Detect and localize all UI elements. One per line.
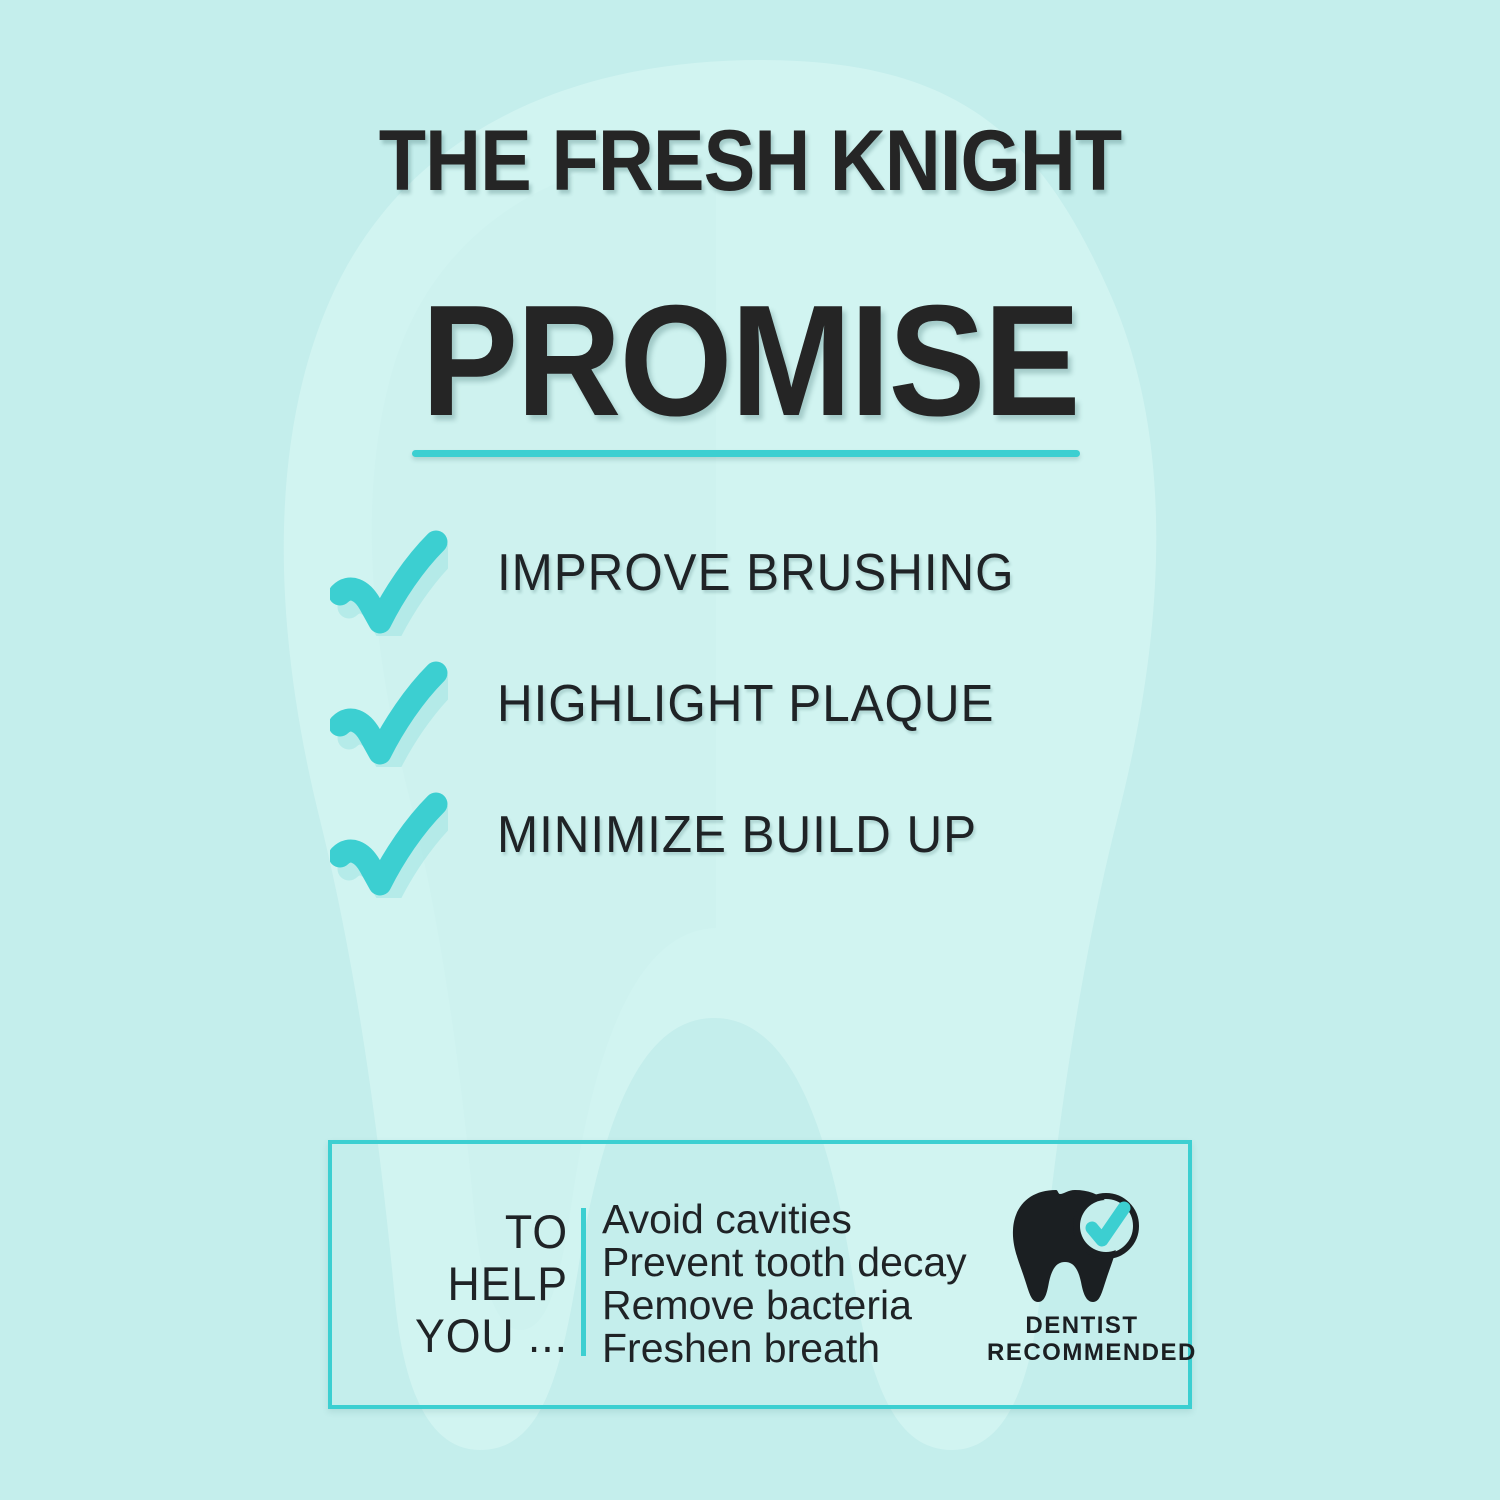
- check-icon: [330, 788, 448, 898]
- benefit-label: IMPROVE BRUSHING: [497, 544, 1014, 602]
- list-item: HIGHLIGHT PLAQUE: [0, 651, 1500, 782]
- bullet-item: Avoid cavities: [602, 1198, 967, 1241]
- benefits-list: IMPROVE BRUSHING HIGHLIGHT PLAQUE: [0, 520, 1500, 913]
- badge-line-2: RECOMMENDED: [987, 1339, 1177, 1366]
- to-help-you-label: TO HELP YOU ...: [344, 1206, 568, 1362]
- page-title: PROMISE: [60, 282, 1440, 440]
- bullet-item: Remove bacteria: [602, 1284, 967, 1327]
- to-help-line-2: HELP: [344, 1258, 568, 1310]
- bullet-item: Freshen breath: [602, 1327, 967, 1370]
- check-icon: [330, 657, 448, 767]
- list-item: MINIMIZE BUILD UP: [0, 782, 1500, 913]
- benefit-label: MINIMIZE BUILD UP: [497, 806, 977, 864]
- to-help-line-1: TO: [344, 1206, 568, 1258]
- badge-line-1: DENTIST: [987, 1312, 1177, 1339]
- brand-line: THE FRESH KNIGHT: [75, 118, 1425, 204]
- benefit-label: HIGHLIGHT PLAQUE: [497, 675, 994, 733]
- tooth-check-icon: [1000, 1184, 1165, 1309]
- vertical-divider: [581, 1208, 586, 1356]
- dentist-recommended-badge: DENTIST RECOMMENDED: [987, 1184, 1177, 1366]
- badge-caption: DENTIST RECOMMENDED: [987, 1312, 1177, 1366]
- info-box: TO HELP YOU ... Avoid cavities Prevent t…: [328, 1140, 1192, 1409]
- bullet-item: Prevent tooth decay: [602, 1241, 967, 1284]
- benefit-bullets: Avoid cavities Prevent tooth decay Remov…: [602, 1198, 967, 1370]
- promise-poster: THE FRESH KNIGHT PROMISE IMPROVE BRUSHIN…: [0, 0, 1500, 1500]
- list-item: IMPROVE BRUSHING: [0, 520, 1500, 651]
- check-icon: [330, 526, 448, 636]
- to-help-line-3: YOU ...: [344, 1310, 568, 1362]
- title-underline: [412, 450, 1080, 457]
